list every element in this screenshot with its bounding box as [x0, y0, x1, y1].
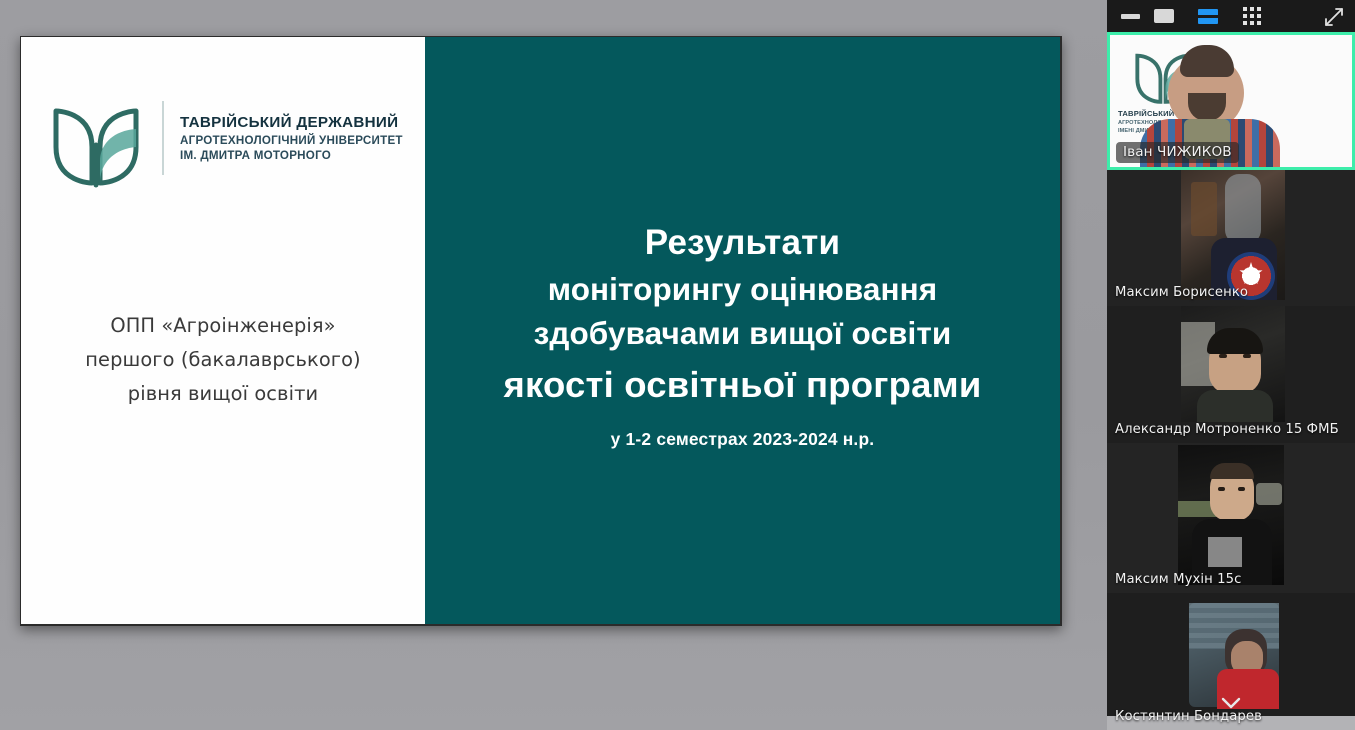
video-layout-toolbar [1107, 0, 1355, 32]
participant-sidebar: ТАВРІЙСЬКИЙ ДЕРЖ АГРОТЕХНОЛОГІЧНИЙ УНІ І… [1107, 0, 1355, 730]
program-line1: ОПП «Агроінженерія» [21, 309, 425, 343]
grid-view-icon[interactable] [1241, 7, 1263, 25]
scroll-down-chevron-icon[interactable] [1218, 694, 1244, 712]
video-feed [1181, 306, 1285, 422]
slide-left-panel: ТАВРІЙСЬКИЙ ДЕРЖАВНИЙ АГРОТЕХНОЛОГІЧНИЙ … [21, 37, 425, 624]
participant-name: Іван ЧИЖИКОВ [1116, 142, 1239, 163]
video-feed [1189, 603, 1279, 707]
slide-title-line2: моніторингу оцінювання [439, 267, 1046, 312]
university-name-line2: АГРОТЕХНОЛОГІЧНИЙ УНІВЕРСИТЕТ [180, 133, 403, 148]
slide-title-line4: якості освітньої програми [439, 358, 1046, 413]
video-feed [1178, 445, 1284, 585]
university-name-line1: ТАВРІЙСЬКИЙ ДЕРЖАВНИЙ [180, 113, 403, 133]
university-name-line3: ІМ. ДМИТРА МОТОРНОГО [180, 148, 403, 163]
split-view-icon[interactable] [1197, 7, 1219, 25]
expand-icon[interactable] [1323, 6, 1345, 28]
hide-panel-icon[interactable] [1119, 7, 1141, 25]
program-title: ОПП «Агроінженерія» першого (бакалаврськ… [21, 309, 425, 411]
university-logo-block: ТАВРІЙСЬКИЙ ДЕРЖАВНИЙ АГРОТЕХНОЛОГІЧНИЙ … [48, 85, 403, 191]
presentation-slide[interactable]: ТАВРІЙСЬКИЙ ДЕРЖАВНИЙ АГРОТЕХНОЛОГІЧНИЙ … [21, 37, 1060, 624]
program-line3: рівня вищої освіти [21, 377, 425, 411]
tulip-logo-icon [48, 85, 144, 191]
program-line2: першого (бакалаврського) [21, 343, 425, 377]
logo-divider [162, 101, 164, 175]
slide-subtitle: у 1-2 семестрах 2023-2024 н.р. [439, 429, 1046, 450]
screen-share-meeting-window: ТАВРІЙСЬКИЙ ДЕРЖАВНИЙ АГРОТЕХНОЛОГІЧНИЙ … [0, 0, 1355, 730]
speaker-view-icon[interactable] [1153, 7, 1175, 25]
participant-name: Максим Мухін 15с [1115, 572, 1241, 587]
participant-tile-active[interactable]: ТАВРІЙСЬКИЙ ДЕРЖ АГРОТЕХНОЛОГІЧНИЙ УНІ І… [1107, 32, 1355, 170]
video-feed [1181, 170, 1285, 300]
slide-title-line3: здобувачами вищої освіти [439, 311, 1046, 356]
participant-tile[interactable]: Максим Борисенко [1107, 170, 1355, 306]
slide-title-line1: Результати [439, 219, 1046, 267]
university-name: ТАВРІЙСЬКИЙ ДЕРЖАВНИЙ АГРОТЕХНОЛОГІЧНИЙ … [180, 113, 403, 164]
participant-tile[interactable]: Максим Мухін 15с [1107, 443, 1355, 593]
participant-tile[interactable]: Александр Мотроненко 15 ФМБ [1107, 306, 1355, 443]
slide-title-block: Результати моніторингу оцінювання здобув… [425, 219, 1060, 450]
participant-name: Александр Мотроненко 15 ФМБ [1115, 422, 1339, 437]
shared-screen-stage: ТАВРІЙСЬКИЙ ДЕРЖАВНИЙ АГРОТЕХНОЛОГІЧНИЙ … [0, 0, 1107, 730]
participant-tiles: ТАВРІЙСЬКИЙ ДЕРЖ АГРОТЕХНОЛОГІЧНИЙ УНІ І… [1107, 32, 1355, 730]
participant-name: Максим Борисенко [1115, 285, 1248, 300]
slide-right-panel: Результати моніторингу оцінювання здобув… [425, 37, 1060, 624]
